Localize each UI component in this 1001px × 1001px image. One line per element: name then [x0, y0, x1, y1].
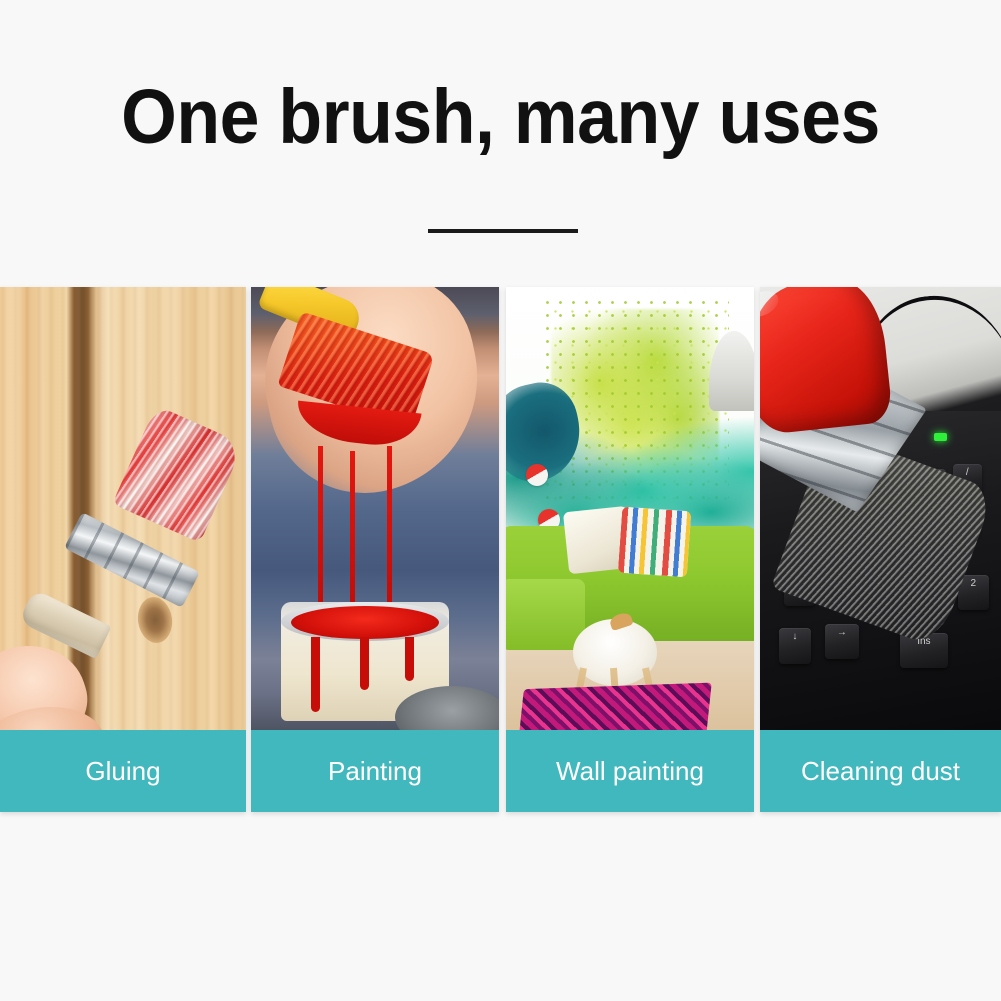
red-brush-handle-icon — [760, 287, 893, 436]
magenta-rug-icon — [518, 682, 712, 730]
gluing-photo — [0, 287, 246, 730]
paint-runoff-icon — [405, 637, 414, 681]
title-divider — [428, 229, 578, 233]
wall-painting-photo — [506, 287, 754, 730]
panel-caption-wall-painting: Wall painting — [506, 730, 754, 812]
painting-photo — [251, 287, 499, 730]
key-arrow-right: → — [825, 624, 859, 659]
panel-caption-cleaning-dust: Cleaning dust — [760, 730, 1001, 812]
use-case-panel-gluing[interactable]: Gluing — [0, 287, 246, 812]
cleaning-dust-photo: Num Lock / 8 2 Ins ↑ ↓ → — [760, 287, 1001, 730]
panel-caption-painting: Painting — [251, 730, 499, 812]
key-label: → — [825, 624, 859, 638]
paint-runoff-icon — [360, 637, 369, 690]
use-case-panel-wall-painting[interactable]: Wall painting — [506, 287, 754, 812]
use-case-panel-painting[interactable]: Painting — [251, 287, 499, 812]
paint-drip-icon — [387, 446, 392, 614]
paint-surface-icon — [291, 606, 440, 639]
striped-pillow-icon — [618, 506, 692, 577]
header-section: One brush, many uses — [0, 0, 1001, 287]
page-title: One brush, many uses — [35, 74, 966, 160]
use-case-panel-strip: Gluing Painting — [0, 287, 1001, 812]
paint-drip-icon — [318, 446, 323, 614]
key-arrow-down: ↓ — [779, 628, 810, 663]
use-case-panel-cleaning-dust[interactable]: Num Lock / 8 2 Ins ↑ ↓ → — [760, 287, 1001, 812]
paint-runoff-icon — [311, 637, 320, 712]
hanging-ball-icon — [526, 464, 548, 486]
key-label: ↓ — [779, 628, 810, 642]
paint-drip-icon — [350, 451, 355, 615]
panel-caption-gluing: Gluing — [0, 730, 246, 812]
keyboard-led-icon — [934, 433, 947, 441]
